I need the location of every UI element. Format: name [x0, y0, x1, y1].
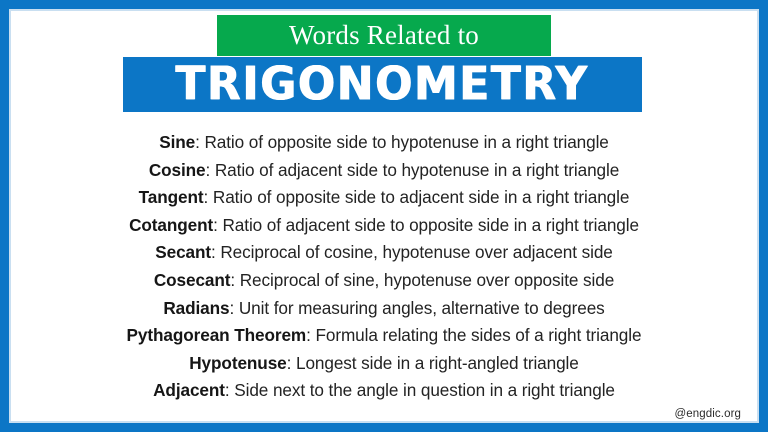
- word-list-item: Secant: Reciprocal of cosine, hypotenuse…: [24, 239, 744, 267]
- word-separator: :: [287, 353, 296, 373]
- eyebrow-banner: Words Related to: [217, 15, 551, 56]
- eyebrow-text: Words Related to: [289, 22, 479, 49]
- page-title: TRIGONOMETRY: [176, 62, 589, 108]
- word-list-item: Hypotenuse: Longest side in a right-angl…: [24, 350, 744, 378]
- word-term: Adjacent: [153, 380, 225, 400]
- word-list-item: Cosine: Ratio of adjacent side to hypote…: [24, 157, 744, 185]
- word-separator: :: [230, 270, 239, 290]
- word-definition: Side next to the angle in question in a …: [234, 380, 615, 400]
- word-term: Cosine: [149, 160, 206, 180]
- word-list-item: Cotangent: Ratio of adjacent side to opp…: [24, 212, 744, 240]
- word-definition: Ratio of adjacent side to opposite side …: [223, 215, 639, 235]
- site-watermark: @engdic.org: [675, 408, 741, 420]
- word-definition: Reciprocal of sine, hypotenuse over oppo…: [240, 270, 614, 290]
- word-term: Radians: [163, 298, 229, 318]
- word-list-item: Tangent: Ratio of opposite side to adjac…: [24, 184, 744, 212]
- word-term: Tangent: [139, 187, 204, 207]
- word-term: Sine: [159, 132, 195, 152]
- word-definition: Ratio of opposite side to adjacent side …: [213, 187, 629, 207]
- word-list: Sine: Ratio of opposite side to hypotenu…: [24, 129, 744, 405]
- word-term: Pythagorean Theorem: [127, 325, 307, 345]
- word-separator: :: [211, 242, 220, 262]
- word-separator: :: [204, 187, 213, 207]
- word-definition: Longest side in a right-angled triangle: [296, 353, 579, 373]
- title-banner: TRIGONOMETRY: [123, 57, 642, 112]
- word-definition: Ratio of opposite side to hypotenuse in …: [204, 132, 608, 152]
- word-list-item: Pythagorean Theorem: Formula relating th…: [24, 322, 744, 350]
- word-definition: Unit for measuring angles, alternative t…: [239, 298, 605, 318]
- word-list-item: Adjacent: Side next to the angle in ques…: [24, 377, 744, 405]
- word-definition: Ratio of adjacent side to hypotenuse in …: [215, 160, 619, 180]
- word-separator: :: [230, 298, 239, 318]
- word-list-item: Sine: Ratio of opposite side to hypotenu…: [24, 129, 744, 157]
- word-separator: :: [206, 160, 215, 180]
- word-definition: Reciprocal of cosine, hypotenuse over ad…: [220, 242, 612, 262]
- word-list-item: Radians: Unit for measuring angles, alte…: [24, 295, 744, 323]
- word-list-item: Cosecant: Reciprocal of sine, hypotenuse…: [24, 267, 744, 295]
- word-term: Cosecant: [154, 270, 231, 290]
- word-separator: :: [213, 215, 222, 235]
- word-term: Secant: [155, 242, 211, 262]
- word-term: Hypotenuse: [189, 353, 286, 373]
- word-term: Cotangent: [129, 215, 213, 235]
- poster-canvas: Words Related to TRIGONOMETRY Sine: Rati…: [0, 0, 768, 432]
- word-separator: :: [225, 380, 234, 400]
- word-definition: Formula relating the sides of a right tr…: [315, 325, 641, 345]
